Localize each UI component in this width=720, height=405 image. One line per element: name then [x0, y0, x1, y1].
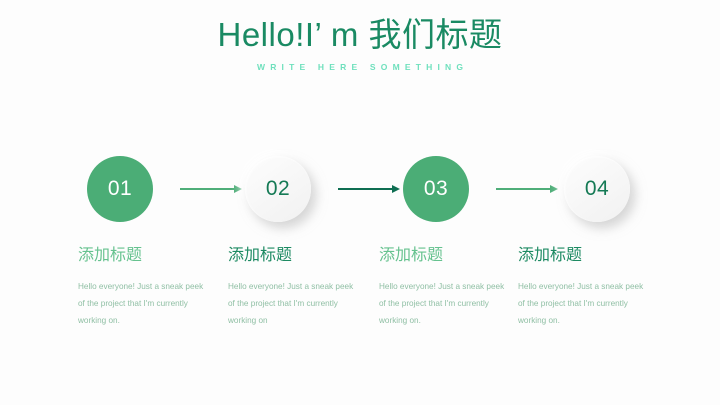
- title-block: Hello!I’ m 我们标题 WRITE HERE SOMETHING: [0, 14, 720, 72]
- arrow-shaft: [338, 188, 392, 190]
- arrow-2-to-3-icon: [338, 186, 400, 192]
- step-column-04: 添加标题 Hello everyone! Just a sneak peek o…: [518, 246, 648, 330]
- arrow-shaft: [496, 188, 550, 190]
- step-number-04: 04: [585, 177, 609, 201]
- step-column-01: 添加标题 Hello everyone! Just a sneak peek o…: [78, 246, 208, 330]
- step-circle-01[interactable]: 01: [87, 156, 153, 222]
- step-body-02: Hello everyone! Just a sneak peek of the…: [228, 279, 354, 329]
- arrow-head: [392, 185, 400, 193]
- steps-row: 01 02 03 04: [0, 156, 720, 222]
- arrow-3-to-4-icon: [496, 186, 558, 192]
- page-subtitle: WRITE HERE SOMETHING: [0, 62, 720, 72]
- step-circle-03[interactable]: 03: [403, 156, 469, 222]
- step-number-03: 03: [424, 177, 448, 201]
- step-body-04: Hello everyone! Just a sneak peek of the…: [518, 279, 644, 329]
- step-heading-03: 添加标题: [379, 246, 509, 265]
- arrow-shaft: [180, 188, 234, 190]
- arrow-1-to-2-icon: [180, 186, 242, 192]
- slide-canvas: Hello!I’ m 我们标题 WRITE HERE SOMETHING 01 …: [0, 0, 720, 405]
- step-body-01: Hello everyone! Just a sneak peek of the…: [78, 279, 204, 329]
- step-body-03: Hello everyone! Just a sneak peek of the…: [379, 279, 505, 329]
- step-column-03: 添加标题 Hello everyone! Just a sneak peek o…: [379, 246, 509, 330]
- step-heading-04: 添加标题: [518, 246, 648, 265]
- step-number-02: 02: [266, 177, 290, 201]
- arrow-head: [550, 185, 558, 193]
- arrow-head: [234, 185, 242, 193]
- step-circle-04[interactable]: 04: [564, 156, 630, 222]
- step-heading-01: 添加标题: [78, 246, 208, 265]
- step-heading-02: 添加标题: [228, 246, 358, 265]
- step-column-02: 添加标题 Hello everyone! Just a sneak peek o…: [228, 246, 358, 330]
- step-circle-02[interactable]: 02: [245, 156, 311, 222]
- step-number-01: 01: [108, 177, 132, 201]
- page-title: Hello!I’ m 我们标题: [0, 14, 720, 55]
